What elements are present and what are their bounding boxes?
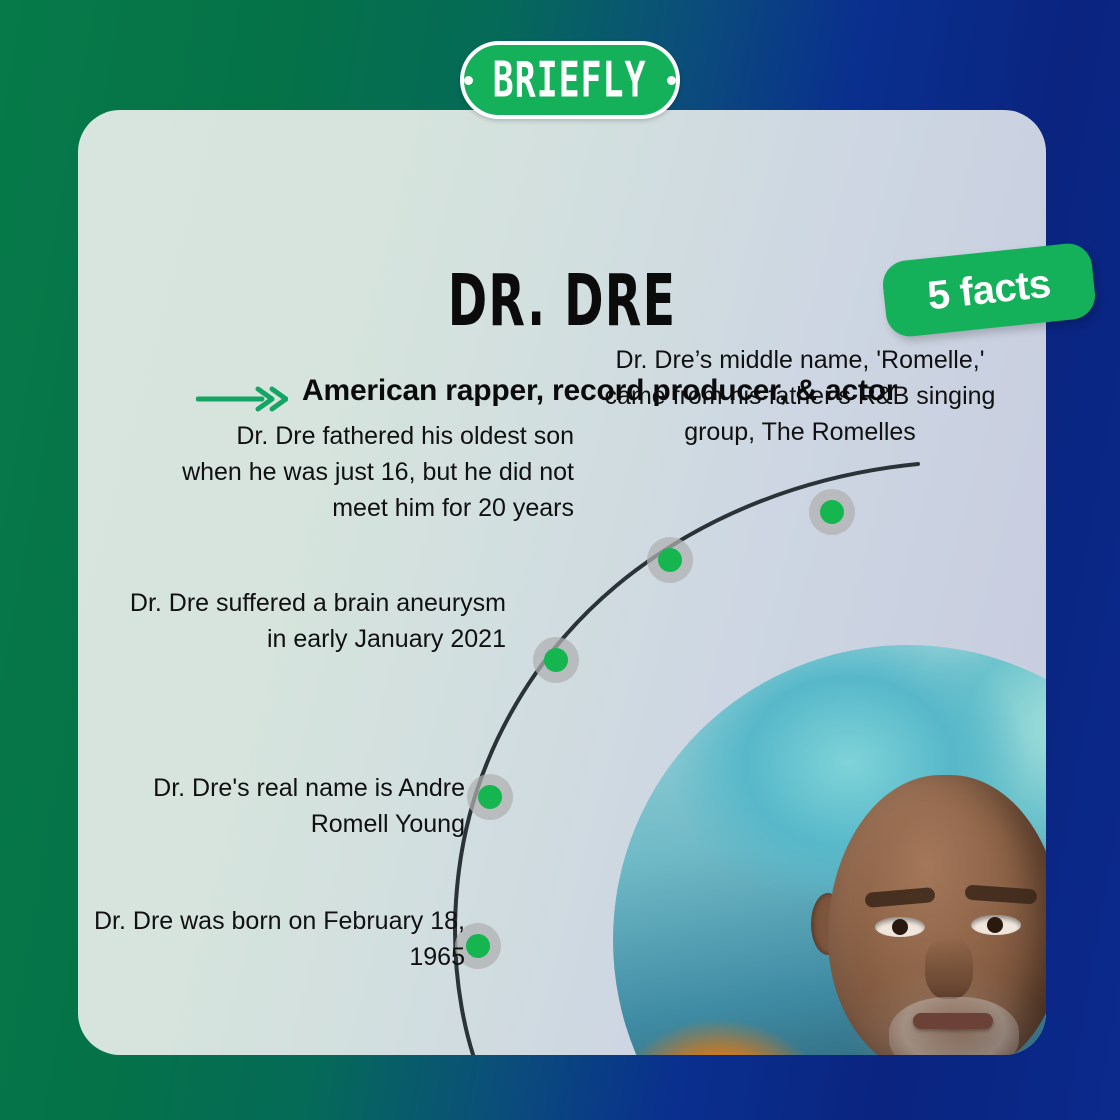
timeline-dot-halo-1 <box>809 489 855 535</box>
timeline-dot-halo-2 <box>647 537 693 583</box>
timeline-dot-1[interactable] <box>820 500 844 524</box>
fact-text-3: Dr. Dre suffered a brain aneurysm in ear… <box>110 585 506 657</box>
subtitle-text: American rapper, record producer, & acto… <box>302 372 897 410</box>
brand-name: BRIEFLY <box>493 56 647 105</box>
fact-text-4: Dr. Dre's real name is Andre Romell Youn… <box>110 770 465 842</box>
timeline-dot-2[interactable] <box>658 548 682 572</box>
mouth-shape <box>913 1013 993 1029</box>
fact-text-2: Dr. Dre fathered his oldest son when he … <box>178 418 574 526</box>
double-chevron-arrow-icon <box>196 386 288 412</box>
facts-count-label: 5 facts <box>925 261 1052 319</box>
timeline-dot-halo-3 <box>533 637 579 683</box>
bullet-dot-icon-right <box>667 76 676 85</box>
page-title: DR. DRE <box>175 259 949 342</box>
timeline-dot-5[interactable] <box>466 934 490 958</box>
timeline-dot-3[interactable] <box>544 648 568 672</box>
bullet-dot-icon-left <box>464 76 473 85</box>
fact-text-5: Dr. Dre was born on February 18, 1965 <box>80 903 465 975</box>
portrait-subject <box>613 645 1046 1055</box>
brand-logo-pill[interactable]: BRIEFLY <box>460 41 680 119</box>
pupil-right <box>987 917 1003 933</box>
pupil-left <box>892 919 908 935</box>
nose-shape <box>925 937 973 999</box>
portrait-photo <box>613 645 1046 1055</box>
timeline-dot-4[interactable] <box>478 785 502 809</box>
info-card: DR. DRE American rapper, record producer… <box>78 110 1046 1055</box>
timeline-dot-halo-4 <box>467 774 513 820</box>
subtitle-row: American rapper, record producer, & acto… <box>196 372 956 412</box>
